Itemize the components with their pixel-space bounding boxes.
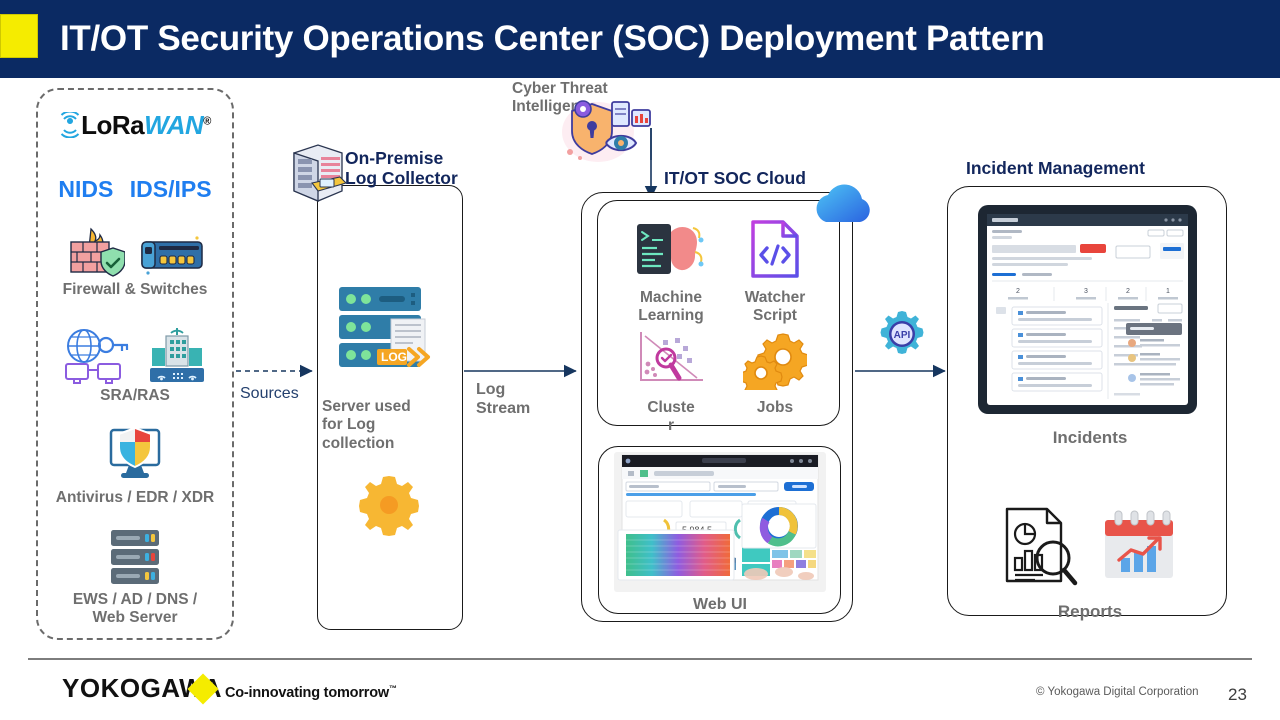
source-icons	[36, 526, 234, 588]
svg-text:2: 2	[1126, 288, 1130, 295]
reports-label: Reports	[1000, 602, 1180, 622]
source-icons	[36, 226, 234, 278]
incident-management-title: Incident Management	[966, 158, 1226, 178]
source-label-firewall-switches: Firewall & Switches	[36, 281, 234, 299]
gear-icon	[354, 470, 424, 540]
gears-icon	[743, 328, 807, 390]
reports-icons	[1000, 506, 1180, 588]
svg-text:1: 1	[1166, 288, 1170, 295]
source-item-antivirus: Antivirus / EDR / XDR	[36, 424, 234, 507]
calendar-chart-icon	[1101, 508, 1177, 586]
firewall-brick-shield-icon	[65, 226, 125, 278]
shield-lock-eye-icon	[556, 96, 652, 168]
svg-text:3: 3	[1084, 288, 1088, 295]
api-gear-icon: API	[877, 309, 927, 359]
server-rack-icon	[106, 526, 164, 588]
svg-text:2: 2	[1016, 288, 1020, 295]
tagline-text: Co-innovating tomorrow	[225, 685, 389, 701]
protocol-labels: NIDS IDS/IPS	[36, 176, 234, 203]
soc-label-watcher-script: Watcher Script	[723, 289, 827, 326]
lorawan-label-lora: LoRa	[81, 110, 144, 140]
source-item-ews-ad-dns: EWS / AD / DNS / Web Server	[36, 526, 234, 628]
network-switch-icon	[139, 230, 205, 278]
soc-label-jobs: Jobs	[723, 399, 827, 417]
source-item-sra-ras: SRA/RAS	[36, 326, 234, 405]
source-icons	[36, 326, 234, 384]
page-number: 23	[1228, 684, 1247, 706]
page-title: IT/OT Security Operations Center (SOC) D…	[60, 14, 1240, 64]
incidents-label: Incidents	[1000, 428, 1180, 448]
source-item-firewall-switches: Firewall & Switches	[36, 226, 234, 299]
svg-text:LOG: LOG	[381, 350, 407, 364]
incident-tablet-screenshot: 2321	[976, 203, 1199, 416]
report-magnifier-icon	[1003, 506, 1079, 588]
copyright-notice: © Yokogawa Digital Corporation	[1036, 684, 1199, 700]
soc-label-cluster: Cluste r	[619, 399, 723, 436]
server-rack-log-icon: LOG	[333, 283, 445, 375]
building-wifi-icon	[146, 326, 208, 384]
dashboard-screenshot: 5,984.5	[614, 452, 826, 592]
connector-label-sources: Sources	[240, 384, 299, 404]
lorawan-logo: LoRaWAN®	[36, 110, 234, 152]
source-icons	[36, 424, 234, 486]
tablet-incident-screenshot: 2321	[976, 203, 1199, 416]
web-ui-dashboard-screenshot: 5,984.5	[614, 452, 826, 592]
server-building-log-icon	[282, 143, 354, 209]
lorawan-wave-icon	[59, 112, 81, 138]
code-document-icon	[747, 218, 803, 280]
soc-cell-jobs: Jobs	[723, 328, 827, 417]
soc-cell-machine-learning: Machine Learning	[619, 218, 723, 326]
lorawan-registered-mark: ®	[203, 115, 211, 127]
protocol-label-idsips: IDS/IPS	[130, 176, 212, 202]
soc-cell-cluster: Cluste r	[619, 328, 723, 436]
yokogawa-tagline: Co-innovating tomorrow™	[225, 680, 397, 702]
monitor-shield-icon	[103, 424, 167, 486]
terminal-brain-icon	[631, 218, 711, 280]
on-premise-title: On-Premise Log Collector	[345, 148, 520, 188]
footer-divider	[28, 658, 1252, 660]
soc-label-machine-learning: Machine Learning	[619, 289, 723, 326]
soc-cell-watcher-script: Watcher Script	[723, 218, 827, 326]
scatter-cluster-magnifier-icon	[633, 328, 709, 390]
source-label-sra-ras: SRA/RAS	[36, 387, 234, 405]
source-label-antivirus: Antivirus / EDR / XDR	[36, 489, 234, 507]
slide-header: IT/OT Security Operations Center (SOC) D…	[0, 0, 1280, 78]
web-ui-label: Web UI	[630, 596, 810, 615]
source-label-ews-ad-dns: EWS / AD / DNS / Web Server	[36, 591, 234, 628]
connector-label-log-stream: Log Stream	[476, 380, 530, 418]
header-accent-square	[0, 14, 38, 58]
protocol-label-nids: NIDS	[58, 176, 113, 202]
globe-key-remote-access-icon	[62, 326, 132, 384]
tagline-tm-mark: ™	[389, 684, 397, 693]
on-premise-caption: Server used for Log collection	[322, 398, 458, 453]
api-label: API	[894, 330, 911, 341]
lorawan-label-wan: WAN	[144, 110, 203, 140]
